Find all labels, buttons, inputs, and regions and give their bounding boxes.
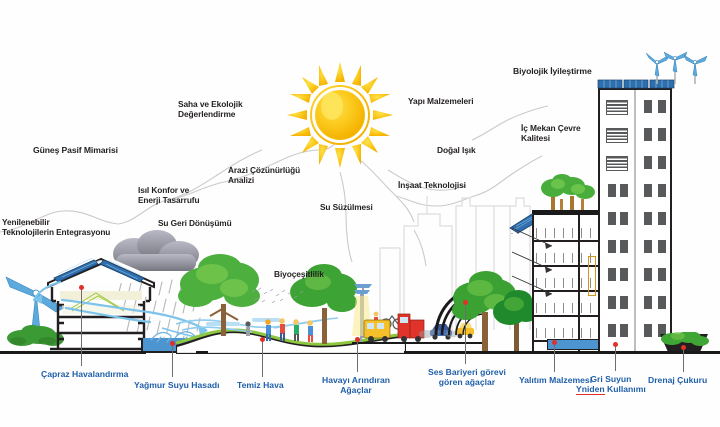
label-yenilenebilir-teknolojilerin-entegrasyonu: Yenilenebilir Teknolojilerin Entegrasyon… bbox=[2, 218, 110, 238]
leader-line-drenaj-cukuru bbox=[683, 348, 684, 372]
label-ic-mekan-cevre-kalitesi: İç Mekan Çevre Kalitesi bbox=[521, 124, 581, 144]
label-isil-konfor-ve-enerji-tasarrufu: Isıl Konfor ve Enerji Tasarrufu bbox=[138, 186, 199, 206]
leader-line-gri-suyun-yniden-kullanimi bbox=[615, 345, 616, 371]
callout-label-temiz-hava[interactable]: Temiz Hava bbox=[237, 380, 284, 390]
label-biyocesitlilik: Biyoçeşitlilik bbox=[274, 270, 324, 280]
sun-icon bbox=[285, 60, 395, 170]
callout-dot-temiz-hava bbox=[260, 337, 265, 342]
wind-turbine-icon bbox=[645, 52, 715, 86]
label-su-geri-donusumu: Su Geri Dönüşümü bbox=[158, 219, 232, 229]
label-arazi-cozunurlugu-analizi: Arazi Çözünürlüğü Analizi bbox=[228, 166, 300, 186]
leader-line-yagmur-suyu-hasadi bbox=[172, 344, 173, 377]
callout-dot-havayi-arindiran-agaclar bbox=[355, 337, 360, 342]
roof-garden-trees bbox=[540, 174, 596, 212]
label-dogal-isik: Doğal Işık bbox=[437, 146, 476, 156]
callout-label-gri-suyun-yniden-kullanimi[interactable]: Gri SuyunYniden Kullanımı bbox=[576, 374, 646, 394]
callout-dot-gri-suyun-yniden-kullanimi bbox=[613, 342, 618, 347]
leader-line-havayi-arindiran-agaclar bbox=[357, 340, 358, 372]
callout-dot-drenaj-cukuru bbox=[681, 345, 686, 350]
label-yapi-malzemeleri: Yapı Malzemeleri bbox=[408, 97, 473, 107]
callout-label-ses-bariyeri-gorevi-goren-agaclar[interactable]: Ses Bariyeri görevi gören ağaçlar bbox=[428, 367, 506, 387]
leader-line-ses-bariyeri-gorevi-goren-agaclar bbox=[465, 303, 466, 364]
ground-line-basin-right bbox=[196, 351, 208, 354]
label-biyolojik-iyilestirme: Biyolojik İyileştirme bbox=[513, 66, 592, 76]
callout-label-capraz-havalandirma[interactable]: Çapraz Havalandırma bbox=[41, 369, 128, 379]
callout-label-drenaj-cukuru[interactable]: Drenaj Çukuru bbox=[648, 375, 707, 385]
tower-building bbox=[598, 88, 672, 353]
callout-dot-yalitim-malzemesi bbox=[552, 340, 557, 345]
callout-label-yagmur-suyu-hasadi[interactable]: Yağmur Suyu Hasadı bbox=[134, 380, 220, 390]
daylight-arrow-icon bbox=[508, 210, 568, 330]
leader-line-yalitim-malzemesi bbox=[554, 343, 555, 372]
leader-line-capraz-havalandirma bbox=[81, 288, 82, 366]
callout-label-havayi-arindiran-agaclar[interactable]: Havayı Arındıran Ağaçlar bbox=[322, 375, 390, 395]
callout-dot-yagmur-suyu-hasadi bbox=[170, 341, 175, 346]
label-gunes-pasif-mimarisi: Güneş Pasif Mimarisi bbox=[33, 145, 118, 155]
label-insaat-teknolojisi: İnşaat Teknolojisi bbox=[398, 181, 466, 191]
leader-line-temiz-hava bbox=[262, 340, 263, 377]
callout-dot-ses-bariyeri-gorevi-goren-agaclar bbox=[463, 300, 468, 305]
label-su-suzulmesi: Su Süzülmesi bbox=[320, 203, 373, 213]
ground-line-left bbox=[0, 351, 146, 354]
sustainable-architecture-infographic: Güneş Pasif MimarisiYenilenebilir Teknol… bbox=[0, 0, 720, 427]
callout-dot-capraz-havalandirma bbox=[79, 285, 84, 290]
label-saha-ve-ekolojik-degerlendirme: Saha ve Ekolojik Değerlendirme bbox=[178, 100, 243, 120]
